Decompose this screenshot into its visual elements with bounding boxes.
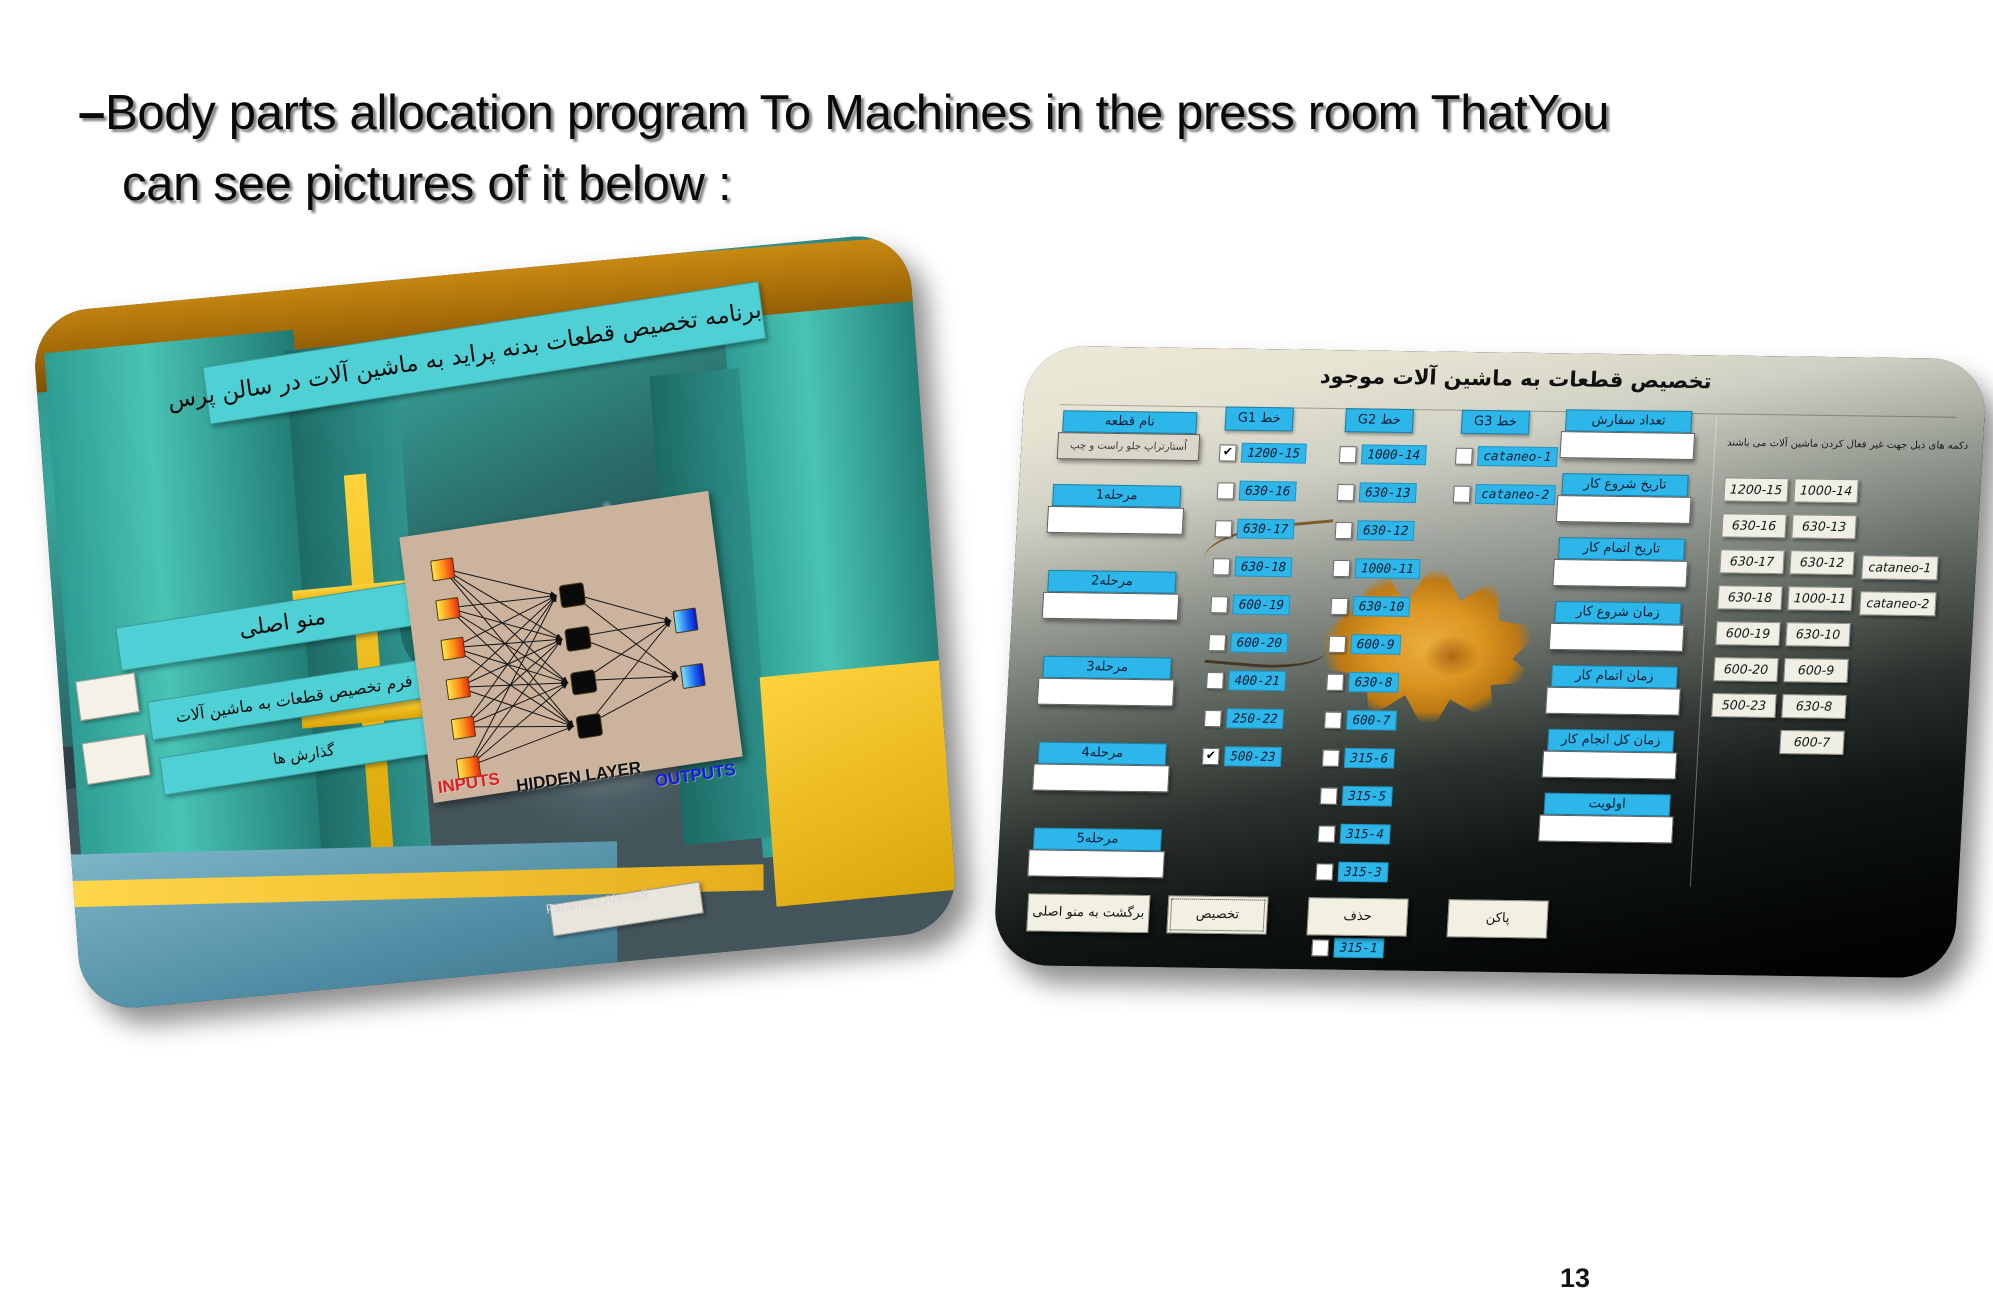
machine-checkbox-row[interactable]: 315-1: [1311, 937, 1384, 958]
machine-code-label: 630-16: [1239, 481, 1297, 502]
allocate-button[interactable]: تخصیص: [1166, 895, 1268, 934]
stage-label-3: مرحله3: [1042, 656, 1171, 680]
stage-input-4[interactable]: [1032, 764, 1170, 793]
order-field-input-4[interactable]: [1549, 623, 1685, 652]
machine-code-label: 500-23: [1224, 746, 1282, 767]
stage-label-5: مرحله5: [1033, 827, 1162, 851]
machine-checkbox-row[interactable]: 250-22: [1204, 708, 1284, 729]
machine-checkbox-row[interactable]: cataneo-2: [1453, 484, 1556, 505]
slide-heading: –Body parts allocation program To Machin…: [78, 78, 1878, 220]
machine-checkbox-row[interactable]: 315-6: [1322, 748, 1395, 769]
allocation-form-card: تخصیص قطعات به ماشین آلات موجود نام قطعه…: [992, 346, 1987, 978]
checkbox-unchecked-icon[interactable]: [1326, 673, 1344, 690]
heading-line-1: Body parts allocation program To Machine…: [105, 86, 1609, 140]
machine-checkbox-row[interactable]: 1000-11: [1332, 558, 1420, 579]
checkbox-unchecked-icon[interactable]: [1339, 446, 1357, 463]
checkbox-unchecked-icon[interactable]: [1215, 520, 1233, 537]
disable-machine-button[interactable]: 630-17: [1719, 549, 1784, 574]
machine-code-label: 1000-11: [1354, 558, 1420, 579]
machine-code-label: 630-13: [1359, 482, 1417, 503]
machine-checkbox-row[interactable]: 315-3: [1315, 861, 1388, 882]
machine-code-label: 1000-14: [1361, 444, 1427, 465]
machine-code-label: 315-6: [1344, 748, 1395, 769]
order-field-input-7[interactable]: [1538, 815, 1674, 844]
left-screenshot-card: برنامه تخصیص قطعات بدنه پراید به ماشین آ…: [31, 231, 958, 1012]
checkbox-unchecked-icon[interactable]: [1324, 711, 1342, 728]
checkbox-unchecked-icon[interactable]: [1453, 485, 1471, 502]
disable-machine-button[interactable]: 630-10: [1785, 622, 1850, 647]
checkbox-checked-icon[interactable]: ✔: [1219, 444, 1237, 461]
checkbox-unchecked-icon[interactable]: [1322, 749, 1340, 766]
order-field-label-4: زمان شروع کار: [1554, 601, 1681, 625]
machine-checkbox-row[interactable]: 600-19: [1210, 594, 1290, 615]
heading-line-2: can see pictures of it below :: [78, 149, 1878, 220]
order-field-label-6: زمان کل انجام کار: [1547, 729, 1674, 753]
machine-checkbox-row[interactable]: 630-12: [1335, 520, 1415, 541]
machine-checkbox-row[interactable]: 630-18: [1212, 556, 1292, 577]
machine-code-label: 630-18: [1234, 557, 1292, 578]
machine-code-label: 600-9: [1350, 634, 1401, 655]
machine-code-label: 1200-15: [1241, 443, 1307, 464]
machine-code-label: 600-7: [1346, 710, 1397, 731]
disable-machines-note: دکمه های ذیل جهت غیر فعال کردن ماشین آلا…: [1721, 437, 1973, 470]
machine-code-label: 630-8: [1348, 672, 1399, 693]
checkbox-unchecked-icon[interactable]: [1208, 634, 1226, 651]
order-field-label-2: تاریخ شروع کار: [1561, 473, 1688, 497]
stage-input-1[interactable]: [1047, 506, 1185, 535]
disable-machine-button[interactable]: 630-8: [1781, 694, 1846, 719]
machine-code-label: 630-10: [1352, 596, 1410, 617]
order-field-label-1: تعداد سفارش: [1565, 409, 1692, 433]
stage-input-5[interactable]: [1027, 849, 1165, 878]
disable-machine-button[interactable]: 630-16: [1721, 513, 1786, 538]
neural-network-diagram: INPUTS HIDDEN LAYER OUTPUTS: [399, 491, 742, 803]
factory-floor: [58, 841, 618, 1012]
machine-code-label: 315-3: [1337, 862, 1388, 883]
checkbox-checked-icon[interactable]: ✔: [1202, 747, 1220, 764]
part-name-label: نام قطعه: [1062, 410, 1197, 434]
order-field-label-5: زمان اتمام کار: [1551, 665, 1678, 689]
checkbox-unchecked-icon[interactable]: [1316, 863, 1334, 880]
line-column-header-2: خط G2: [1345, 408, 1414, 433]
line-column-header-1: خط G1: [1225, 407, 1294, 432]
machine-code-label: cataneo-2: [1475, 484, 1556, 505]
slide-page-number: 13: [1540, 1263, 1610, 1294]
machine-checkbox-row[interactable]: 315-5: [1320, 786, 1393, 807]
stage-label-2: مرحله2: [1047, 570, 1176, 594]
stage-input-2[interactable]: [1042, 592, 1180, 621]
back-to-main-menu-button[interactable]: برگشت به منو اصلی: [1026, 893, 1150, 933]
checkbox-unchecked-icon[interactable]: [1330, 597, 1348, 614]
disable-machine-button[interactable]: 1000-11: [1787, 586, 1852, 611]
disable-machine-button[interactable]: 500-23: [1711, 693, 1776, 718]
order-field-label-3: تاریخ اتمام کار: [1558, 537, 1685, 561]
machine-checkbox-row[interactable]: 600-20: [1208, 632, 1288, 653]
machine-checkbox-row[interactable]: 630-10: [1330, 596, 1410, 617]
machine-code-label: 250-22: [1226, 708, 1284, 729]
machine-checkbox-row[interactable]: 315-4: [1318, 823, 1391, 844]
checkbox-unchecked-icon[interactable]: [1212, 558, 1230, 575]
machine-code-label: 630-12: [1357, 520, 1415, 541]
machine-checkbox-row[interactable]: cataneo-1: [1455, 446, 1558, 467]
checkbox-unchecked-icon[interactable]: [1210, 596, 1228, 613]
disable-machine-button[interactable]: 600-7: [1779, 730, 1844, 755]
checkbox-unchecked-icon[interactable]: [1328, 635, 1346, 652]
heading-dash: –: [78, 86, 105, 140]
checkbox-unchecked-icon[interactable]: [1318, 825, 1336, 842]
machine-checkbox-row[interactable]: 630-17: [1214, 518, 1294, 539]
disable-machine-button[interactable]: 600-20: [1713, 657, 1778, 682]
clear-button[interactable]: پاکن: [1447, 899, 1549, 938]
delete-button[interactable]: حذف: [1306, 897, 1408, 936]
disable-machine-button[interactable]: 600-19: [1715, 621, 1780, 646]
checkbox-unchecked-icon[interactable]: [1204, 709, 1222, 726]
neural-network-graph: [399, 491, 742, 803]
machine-code-label: 315-1: [1333, 938, 1384, 959]
machine-code-label: 600-20: [1230, 632, 1288, 653]
machine-code-label: 315-4: [1340, 824, 1391, 845]
checkbox-unchecked-icon[interactable]: [1335, 521, 1353, 538]
machine-checkbox-row[interactable]: 400-21: [1206, 670, 1286, 691]
machine-checkbox-row[interactable]: ✔500-23: [1202, 746, 1282, 767]
machine-code-label: 315-5: [1342, 786, 1393, 807]
order-field-input-5[interactable]: [1545, 687, 1681, 716]
machine-checkbox-row[interactable]: 630-13: [1337, 482, 1417, 503]
checkbox-unchecked-icon[interactable]: [1311, 939, 1329, 956]
order-field-input-1[interactable]: [1559, 431, 1695, 460]
machine-checkbox-row[interactable]: 630-16: [1217, 480, 1297, 501]
machine-code-label: 400-21: [1228, 670, 1286, 691]
disable-machine-button[interactable]: 630-12: [1789, 550, 1854, 575]
stage-label-1: مرحله1: [1052, 484, 1181, 508]
machine-code-label: 630-17: [1236, 519, 1294, 540]
order-field-input-3[interactable]: [1552, 559, 1688, 588]
order-field-label-7: اولویت: [1544, 793, 1671, 817]
disable-machine-button[interactable]: cataneo-1: [1861, 555, 1938, 580]
line-column-header-3: خط G3: [1461, 410, 1530, 435]
checkbox-unchecked-icon[interactable]: [1320, 787, 1338, 804]
stage-label-4: مرحله4: [1038, 742, 1167, 766]
machine-checkbox-row[interactable]: 1000-14: [1339, 444, 1427, 465]
checkbox-unchecked-icon[interactable]: [1455, 447, 1473, 464]
order-field-input-2[interactable]: [1556, 495, 1692, 524]
machine-disable-keypad: 1200-15630-16630-17630-18600-19600-20500…: [1704, 477, 1969, 780]
checkbox-unchecked-icon[interactable]: [1206, 672, 1224, 689]
machine-code-label: 600-19: [1232, 594, 1290, 615]
machine-checkbox-row[interactable]: 600-7: [1324, 710, 1397, 731]
machine-checkbox-row[interactable]: ✔1200-15: [1219, 442, 1307, 463]
disable-machine-button[interactable]: 1000-14: [1793, 478, 1858, 503]
disable-machine-button[interactable]: cataneo-2: [1859, 591, 1936, 616]
part-name-input[interactable]: اُستارتراپ جلو راست و چپ: [1057, 432, 1201, 461]
checkbox-unchecked-icon[interactable]: [1333, 559, 1351, 576]
disable-machine-button[interactable]: 1200-15: [1723, 477, 1788, 502]
stage-input-3[interactable]: [1037, 678, 1175, 707]
order-field-input-6[interactable]: [1542, 751, 1678, 780]
disable-machine-button[interactable]: 630-18: [1717, 585, 1782, 610]
yellow-equipment: [760, 659, 959, 907]
machine-checkbox-row[interactable]: 630-8: [1326, 672, 1399, 693]
checkbox-unchecked-icon[interactable]: [1337, 484, 1355, 501]
machine-checkbox-row[interactable]: 600-9: [1328, 634, 1401, 655]
machine-code-label: cataneo-1: [1477, 446, 1558, 467]
checkbox-unchecked-icon[interactable]: [1217, 482, 1235, 499]
disable-machine-button[interactable]: 600-9: [1783, 658, 1848, 683]
disable-machine-button[interactable]: 630-13: [1791, 514, 1856, 539]
